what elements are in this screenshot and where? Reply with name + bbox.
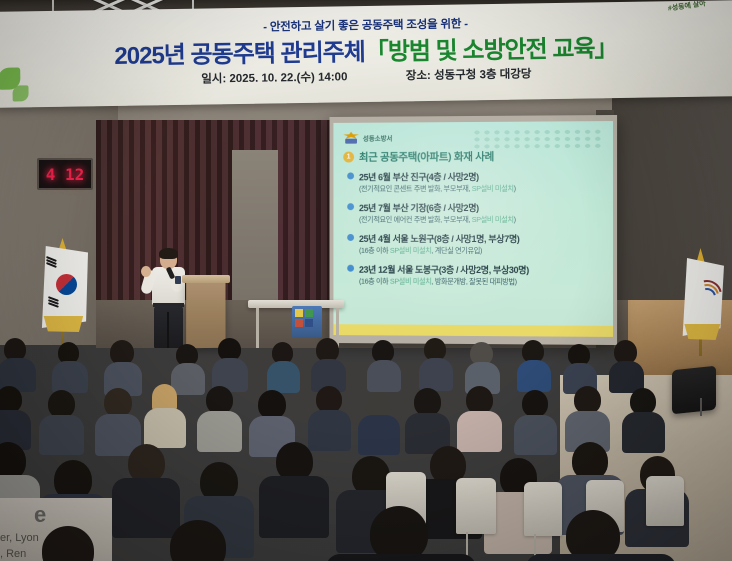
chair bbox=[524, 482, 562, 536]
uniform-badge bbox=[175, 276, 181, 284]
case-sub-pre: (전기적요인 에어컨 주변 발화, 부모부재, bbox=[359, 215, 472, 224]
clock-digits: 4 12 bbox=[42, 163, 88, 185]
bullet-dot-icon bbox=[347, 203, 354, 210]
list-item: 25년 6월 부산 진구(4층 / 사망2명) (전기적요인 콘센트 주변 발화… bbox=[347, 170, 603, 195]
case-sub-post: ) bbox=[514, 184, 516, 193]
banner-title-blue: 2025년 공동주택 관리주체 bbox=[114, 39, 365, 70]
poster-line-3: , Ren bbox=[0, 548, 26, 560]
slide-title: 최근 공동주택(아파트) 화재 사례 bbox=[359, 149, 494, 165]
banner-datetime: 일시: 2025. 10. 22.(수) 14:00 bbox=[201, 68, 347, 86]
case-sub-text: (전기적요인 콘센트 주변 발화, 부모부재, SP설비 미설치) bbox=[359, 184, 603, 195]
case-main-text: 25년 7월 부산 기장(6층 / 사망2명) bbox=[359, 201, 479, 214]
presenter-hair bbox=[159, 248, 178, 259]
list-item: 25년 7월 부산 기장(6층 / 사망2명) (전기적요인 에어컨 주변 발화… bbox=[347, 201, 603, 225]
case-main-text: 23년 12월 서울 도봉구(3층 / 사망2명, 부상30명) bbox=[359, 263, 529, 276]
case-sub-post: , 계단실 연기유입) bbox=[431, 246, 482, 255]
slide-title-row: 1 최근 공동주택(아파트) 화재 사례 bbox=[343, 149, 494, 165]
case-main-text: 25년 4월 서울 노원구(8층 / 사망1명, 부상7명) bbox=[359, 232, 520, 245]
case-sub-pre: (전기적요인 콘센트 주변 발화, 부모부재, bbox=[359, 184, 472, 193]
digital-wall-clock: 4 12 bbox=[37, 158, 93, 190]
event-banner: #성동에 살아 - 안전하고 살기 좋은 공동주택 조성을 위한 - 2025년… bbox=[0, 0, 732, 108]
presenter-raised-hand bbox=[141, 266, 151, 277]
bullet-dot-icon bbox=[347, 172, 354, 179]
banner-title-green: 「방범 및 소방안전 교육」 bbox=[365, 35, 618, 66]
case-sub-emphasis: SP설비 미설치 bbox=[390, 246, 431, 255]
bullet-dot-icon bbox=[347, 265, 354, 272]
projection-screen: 성동소방서 1 최근 공동주택(아파트) 화재 사례 25년 6월 부산 진구(… bbox=[329, 115, 617, 345]
slide-dot-pattern bbox=[472, 128, 603, 151]
case-sub-emphasis: SP설비 미설치 bbox=[472, 184, 514, 193]
case-main-text: 25년 6월 부산 진구(4층 / 사망2명) bbox=[359, 170, 479, 183]
case-sub-pre: (16층 이하 bbox=[359, 246, 390, 255]
case-sub-text: (16층 이하 SP설비 미설치, 계단실 연기유입) bbox=[359, 246, 603, 256]
lecture-hall-photo: #성동에 살아 - 안전하고 살기 좋은 공동주택 조성을 위한 - 2025년… bbox=[0, 0, 732, 561]
banner-place: 장소: 성동구청 3층 대강당 bbox=[406, 65, 532, 83]
slide-org-label: 성동소방서 bbox=[363, 132, 393, 142]
bullet-dot-icon bbox=[347, 234, 354, 241]
case-sub-post: ) bbox=[514, 215, 516, 224]
slide-number-badge: 1 bbox=[343, 152, 354, 163]
poster-line-1: e bbox=[34, 502, 46, 528]
audience-seating: e er, Lyon , Ren bbox=[0, 330, 732, 561]
case-sub-post: , 방화문개방, 잘못된 대피방법) bbox=[431, 277, 516, 286]
list-item: 23년 12월 서울 도봉구(3층 / 사망2명, 부상30명) (16층 이하… bbox=[347, 263, 603, 288]
slide-case-list: 25년 6월 부산 진구(4층 / 사망2명) (전기적요인 콘센트 주변 발화… bbox=[347, 170, 603, 295]
case-sub-pre: (16층 이하 bbox=[359, 277, 390, 286]
banner-meta-gap bbox=[351, 79, 403, 80]
case-sub-text: (16층 이하 SP설비 미설치, 방화문개방, 잘못된 대피방법) bbox=[359, 277, 603, 288]
poster-line-2: er, Lyon bbox=[0, 532, 39, 544]
slide-brand-row: 성동소방서 bbox=[343, 131, 392, 143]
presentation-slide: 성동소방서 1 최근 공동주택(아파트) 화재 사례 25년 6월 부산 진구(… bbox=[333, 121, 613, 337]
case-sub-emphasis: SP설비 미설치 bbox=[472, 215, 514, 224]
chair bbox=[456, 478, 496, 534]
case-sub-emphasis: SP설비 미설치 bbox=[390, 277, 431, 286]
list-item: 25년 4월 서울 노원구(8층 / 사망1명, 부상7명) (16층 이하 S… bbox=[347, 232, 603, 256]
podium-top-surface bbox=[182, 275, 230, 283]
taeguk-symbol-icon bbox=[56, 274, 77, 295]
chair bbox=[646, 476, 684, 526]
wall-door-panel bbox=[232, 150, 278, 300]
fire-station-logo-icon bbox=[343, 132, 359, 144]
case-sub-text: (전기적요인 에어컨 주변 발화, 부모부재, SP설비 미설치) bbox=[359, 215, 603, 225]
